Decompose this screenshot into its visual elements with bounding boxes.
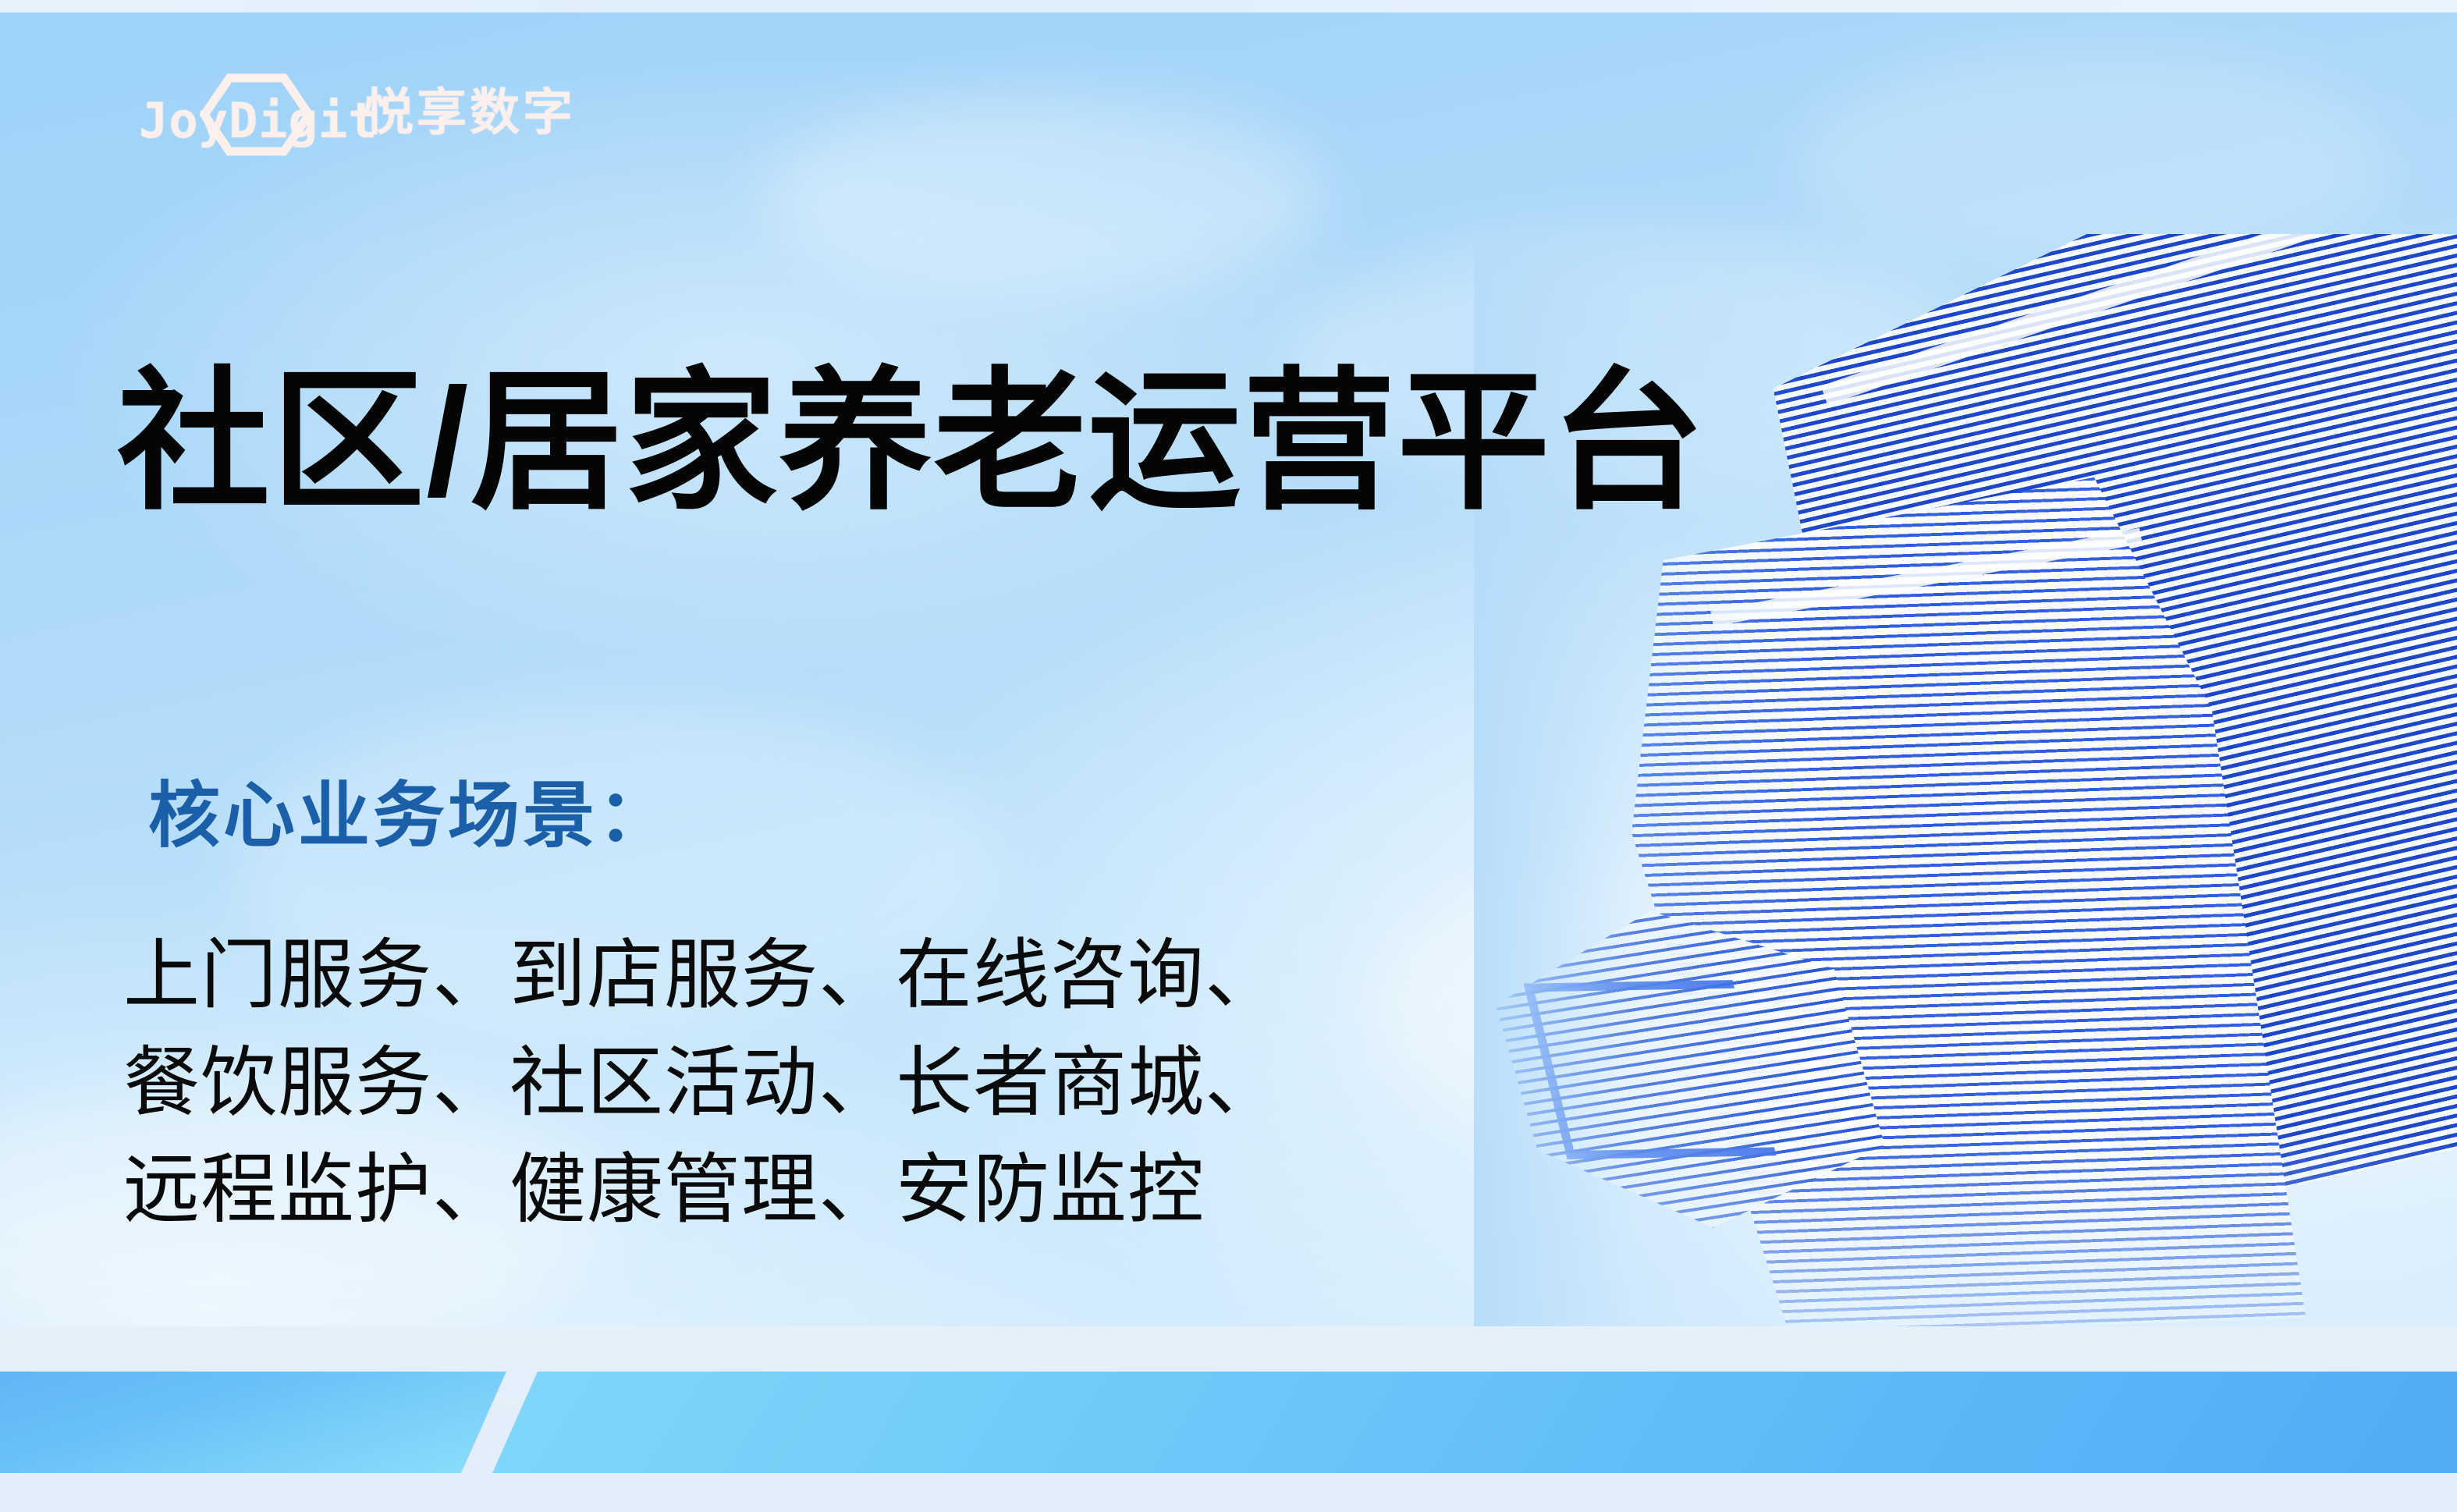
page-title: 社区/居家养老运营平台 xyxy=(117,357,1706,528)
scenario-line: 上门服务、到店服务、在线咨询、 xyxy=(123,930,1282,1020)
cloud-shape xyxy=(765,94,1326,296)
podium-frame xyxy=(1524,980,1777,1159)
logo-wordmark: JoyDigit xyxy=(139,97,378,145)
brand-logo[interactable]: JoyDigit 悦享数字 xyxy=(139,76,576,151)
scenario-line: 餐饮服务、社区活动、长者商城、 xyxy=(123,1038,1282,1128)
logo-mark: JoyDigit xyxy=(139,76,343,151)
scenario-line: 远程监护、健康管理、安防监控 xyxy=(123,1145,1282,1235)
top-edge-strip xyxy=(0,0,2457,12)
logo-chinese-name: 悦享数字 xyxy=(364,87,576,140)
blue-diagonal-ribbon xyxy=(0,1326,2457,1512)
slide-canvas: JoyDigit 悦享数字 社区/居家养老运营平台 核心业务场景： 上门服务、到… xyxy=(0,0,2457,1512)
scenario-list: 上门服务、到店服务、在线咨询、 餐饮服务、社区活动、长者商城、 远程监护、健康管… xyxy=(123,930,1282,1235)
ribbon-segment-left xyxy=(0,1372,506,1473)
section-subheading: 核心业务场景： xyxy=(148,780,673,852)
ribbon-segment-right xyxy=(492,1372,2457,1473)
